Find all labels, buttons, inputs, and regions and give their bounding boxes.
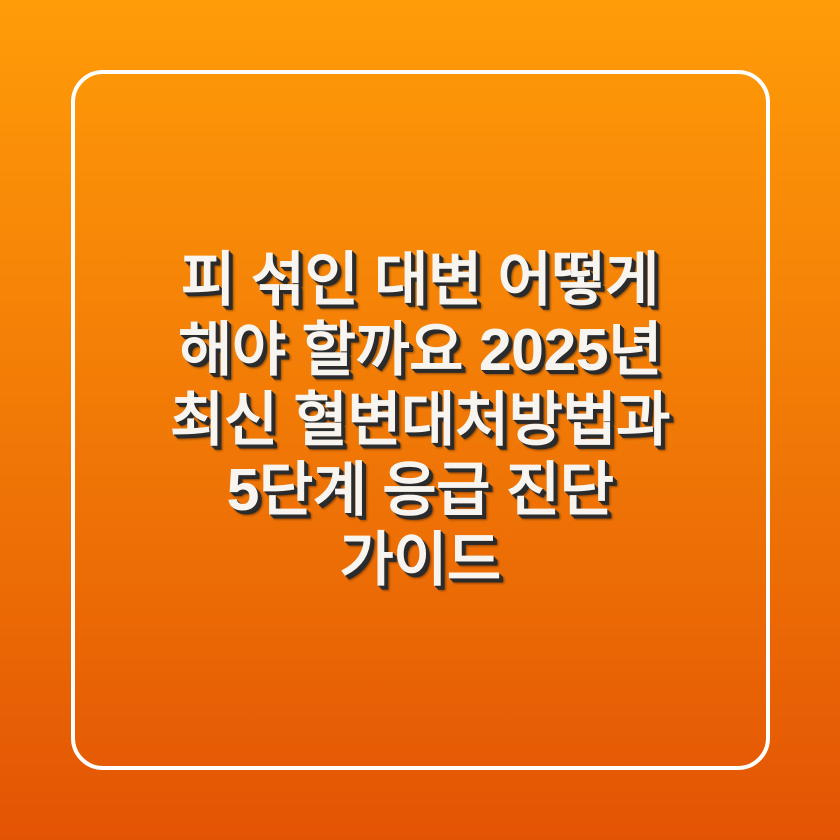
headline-line-4: 5단계 응급 진단 xyxy=(96,455,744,525)
headline-line-5: 가이드 xyxy=(96,525,744,595)
headline-text-block: 피 섞인 대변 어떻게 해야 할까요 2025년 최신 혈변대처방법과 5단계 … xyxy=(0,0,840,840)
headline-line-2: 해야 할까요 2025년 xyxy=(96,315,744,385)
headline-line-3: 최신 혈변대처방법과 xyxy=(96,385,744,455)
headline-line-1: 피 섞인 대변 어떻게 xyxy=(96,245,744,315)
thumbnail-card: 피 섞인 대변 어떻게 해야 할까요 2025년 최신 혈변대처방법과 5단계 … xyxy=(0,0,840,840)
